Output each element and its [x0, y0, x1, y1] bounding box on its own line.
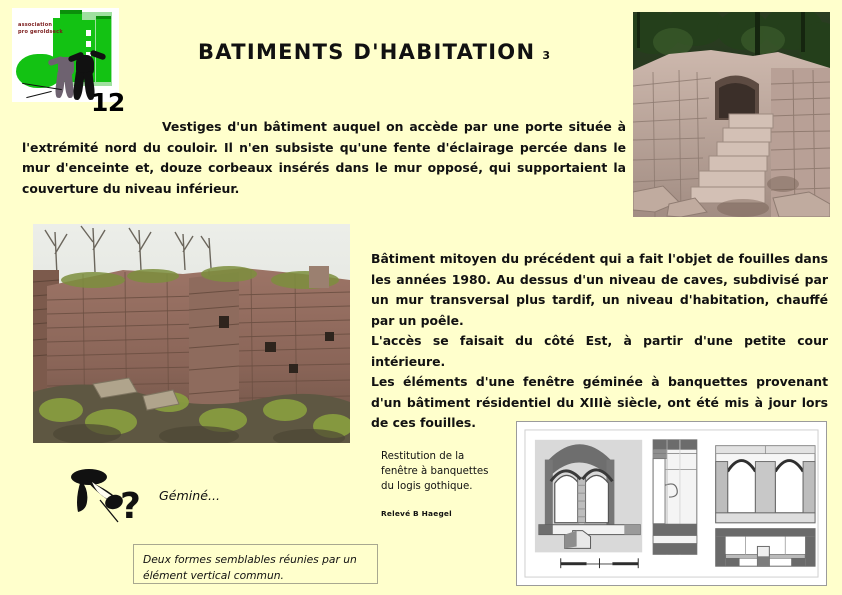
page-title-superscript: 3	[542, 49, 550, 62]
drawing-view-plan	[716, 529, 815, 567]
question-mark-icon: ?	[120, 486, 141, 527]
page-number: 12	[91, 88, 125, 117]
drawing-view-elevation-right	[716, 446, 815, 523]
page-title-text: BATIMENTS D'HABITATION	[198, 40, 535, 64]
glossary-term: Géminé...	[159, 488, 220, 503]
page-title: BATIMENTS D'HABITATION3	[198, 40, 550, 64]
paragraph-vestiges: Vestiges d'un bâtiment auquel on accède …	[22, 117, 626, 199]
glossary-definition-line: élément vertical commun.	[143, 568, 368, 584]
pushpin-icon	[71, 469, 125, 522]
svg-text:?: ?	[120, 486, 141, 527]
glossary-icons: ?	[68, 466, 156, 532]
paragraph-block: Bâtiment mitoyen du précédent qui a fait…	[371, 249, 828, 331]
drawing-credit: Relevé B Haegel	[381, 509, 452, 518]
glossary-definition-box: Deux formes semblables réunies par un él…	[133, 544, 378, 584]
paragraph-batiment-mitoyen: Bâtiment mitoyen du précédent qui a fait…	[371, 249, 828, 434]
slide-page: association pro geroldseck 12 BATIMENTS …	[0, 0, 842, 595]
drawing-caption-line: fenêtre à banquettes	[381, 464, 506, 479]
drawing-view-section	[653, 440, 697, 555]
architectural-drawing-window	[516, 421, 827, 586]
photo-ruins-staircase	[633, 12, 830, 217]
drawing-caption-line: du logis gothique.	[381, 479, 506, 494]
drawing-caption-line: Restitution de la	[381, 449, 506, 464]
glossary-definition-line: Deux formes semblables réunies par un	[143, 552, 368, 568]
drawing-view-elevation-left	[535, 440, 642, 553]
paragraph-block: L'accès se faisait du côté Est, à partir…	[371, 331, 828, 372]
logo-caption: association pro geroldseck	[18, 22, 63, 36]
photo-ruins-walls	[33, 224, 350, 443]
drawing-caption: Restitution de la fenêtre à banquettes d…	[381, 449, 506, 494]
